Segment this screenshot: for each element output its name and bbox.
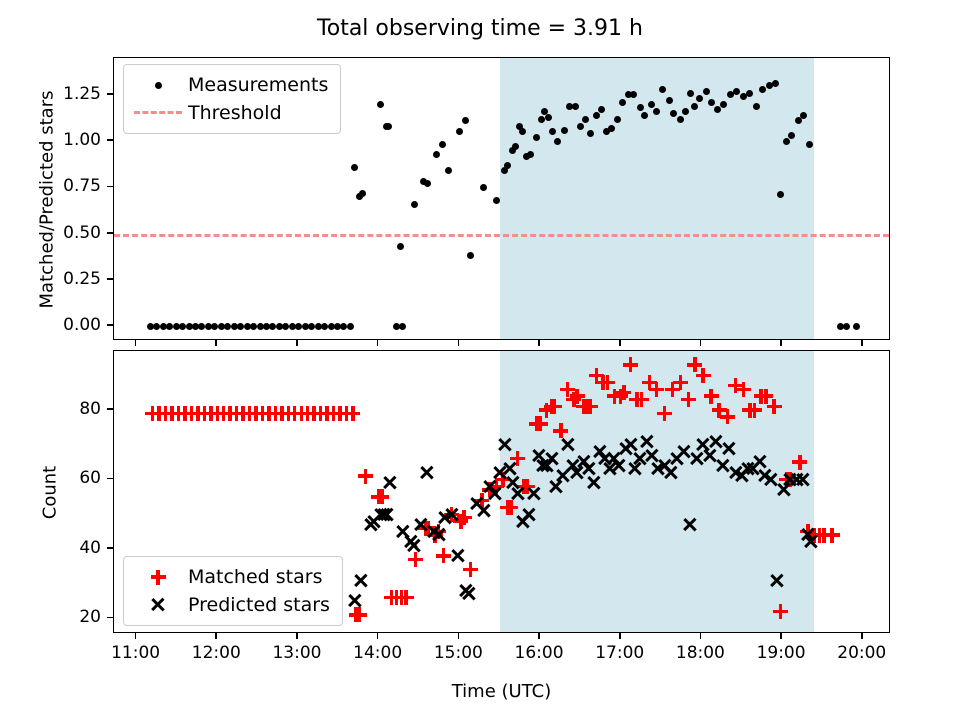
x-tick-label: 18:00 [676,643,725,663]
data-point [526,486,541,501]
data-point [382,475,397,490]
data-point [683,517,698,532]
data-point [436,548,451,563]
y-tick-label: 60 [21,468,101,488]
data-point [533,134,540,141]
x-tick [296,633,298,639]
data-point [792,455,807,470]
threshold-line [114,234,889,237]
x-tick [780,340,782,346]
data-point [462,587,477,602]
x-tick [700,340,702,346]
y-tick-label: 40 [21,538,101,558]
data-point [407,538,422,553]
data-point [681,392,696,407]
x-tick [700,633,702,639]
data-point [593,112,600,119]
data-point [777,191,784,198]
data-point [773,604,788,619]
data-point [696,95,703,102]
y-tick [107,93,113,95]
data-point [420,465,435,480]
x-tick [619,340,621,346]
x-tick [458,633,460,639]
ratio-legend: Measurements Threshold [123,64,341,134]
data-point [353,573,368,588]
data-point [385,123,392,130]
data-point [463,562,478,577]
data-point [703,88,710,95]
data-point [825,528,840,543]
data-point [682,108,689,115]
y-tick-label: 1.25 [21,84,101,104]
data-point [572,103,579,110]
data-point [439,141,446,148]
data-point [666,97,673,104]
data-point [720,409,735,424]
predicted-stars-marker-icon [132,595,184,615]
count-panel: Matched stars Predicted stars [113,350,890,633]
data-point [549,128,556,135]
data-point [714,106,721,113]
data-point [736,382,751,397]
x-tick-label: 12:00 [192,643,241,663]
data-point [767,399,782,414]
data-point [619,99,626,106]
legend-label-measurements: Measurements [188,74,328,96]
data-point [397,243,404,250]
x-tick-label: 14:00 [353,643,402,663]
data-point [457,510,472,525]
data-point [411,201,418,208]
data-point [581,462,596,477]
data-point [800,112,807,119]
measurements-marker-icon [132,75,184,95]
legend-label-predicted-stars: Predicted stars [188,594,330,616]
data-point [345,406,360,421]
data-point [510,486,525,501]
data-point [476,503,491,518]
x-tick [377,340,379,346]
data-point [659,86,666,93]
data-point [623,357,638,372]
data-point [639,434,654,449]
x-tick-label: 16:00 [515,643,564,663]
data-point [480,184,487,191]
data-point [462,117,469,124]
data-point [424,180,431,187]
data-point [649,382,664,397]
x-tick [538,340,540,346]
figure-root: Total observing time = 3.91 h Measuremen… [0,0,960,720]
x-tick [135,633,137,639]
data-point [806,141,813,148]
legend-item-predicted-stars: Predicted stars [132,591,330,619]
data-point [519,128,526,135]
data-point [630,91,637,98]
data-point [408,552,423,567]
data-point [788,132,795,139]
x-tick [780,633,782,639]
data-point [445,167,452,174]
data-point [351,164,358,171]
count-legend: Matched stars Predicted stars [123,556,343,626]
y-tick [107,617,113,619]
data-point [691,103,698,110]
data-point [752,455,767,470]
data-point [600,375,615,390]
data-point [796,472,811,487]
legend-item-measurements: Measurements [132,71,328,99]
data-point [582,116,589,123]
y-tick [107,232,113,234]
data-point [663,465,678,480]
data-point [720,101,727,108]
ratio-panel: Measurements Threshold [113,57,890,340]
x-tick [861,633,863,639]
data-point [547,399,562,414]
data-point [677,116,684,123]
data-point [456,128,463,135]
x-tick-label: 13:00 [272,643,321,663]
y-tick [107,139,113,141]
data-point [358,469,373,484]
x-tick [861,340,863,346]
data-point [612,458,627,473]
data-point [544,451,559,466]
y-tick [107,186,113,188]
data-point [687,90,694,97]
data-point [577,123,584,130]
legend-label-matched-stars: Matched stars [188,566,322,588]
data-point [747,403,762,418]
data-point [670,110,677,117]
data-point [843,323,850,330]
data-point [804,534,819,549]
data-point [608,125,615,132]
data-point [657,406,672,421]
data-point [753,103,760,110]
x-tick-label: 20:00 [837,643,886,663]
figure-title: Total observing time = 3.91 h [0,16,960,41]
data-point [583,399,598,414]
data-point [772,80,779,87]
data-point [503,500,518,515]
data-point [450,548,465,563]
data-point [444,507,459,522]
data-point [637,104,644,111]
x-tick-label: 15:00 [434,643,483,663]
data-point [853,323,860,330]
data-point [431,528,446,543]
y-tick-label: 80 [21,399,101,419]
y-tick-label: 0.50 [21,223,101,243]
y-tick-label: 0.75 [21,176,101,196]
data-point [433,151,440,158]
x-tick [377,633,379,639]
matched-stars-marker-icon [132,567,184,587]
data-point [497,437,512,452]
data-point [521,507,536,522]
data-point [759,86,766,93]
y-tick-label: 1.00 [21,130,101,150]
data-point [347,594,362,609]
data-point [493,197,500,204]
data-point [708,99,715,106]
legend-item-threshold: Threshold [132,99,328,127]
y-tick [107,478,113,480]
data-point [352,607,367,622]
data-point [545,114,552,121]
x-tick-label: 19:00 [757,643,806,663]
x-tick [296,340,298,346]
data-point [586,475,601,490]
data-point [634,392,649,407]
count-y-axis-title: Count [40,383,61,603]
data-point [746,90,753,97]
x-tick [538,633,540,639]
data-point [359,190,366,197]
data-point [553,423,568,438]
data-point [347,323,354,330]
x-tick [135,340,137,346]
data-point [648,101,655,108]
data-point [379,507,394,522]
y-tick [107,547,113,549]
threshold-line-icon [132,103,184,123]
data-point [561,127,568,134]
data-point [399,590,414,605]
data-point [598,106,605,113]
data-point [512,143,519,150]
x-tick [215,340,217,346]
y-tick [107,278,113,280]
y-tick [107,324,113,326]
data-point [467,252,474,259]
data-point [533,416,548,431]
data-point [487,486,502,501]
data-point [587,130,594,137]
x-tick-label: 11:00 [111,643,160,663]
data-point [641,112,648,119]
data-point [504,162,511,169]
ratio-y-axis-title: Matched/Predicted stars [37,90,58,310]
data-point [614,116,621,123]
legend-label-threshold: Threshold [188,102,282,124]
data-point [696,368,711,383]
x-tick-label: 17:00 [595,643,644,663]
y-tick-label: 20 [21,607,101,627]
data-point [704,389,719,404]
x-tick [619,633,621,639]
x-axis-title: Time (UTC) [113,681,890,702]
data-point [721,441,736,456]
data-point [527,151,534,158]
data-point [770,573,785,588]
data-point [673,375,688,390]
data-point [653,108,660,115]
data-point [502,462,517,477]
data-point [733,88,740,95]
data-point [554,138,561,145]
data-point [560,437,575,452]
data-point [623,437,638,452]
x-tick [458,340,460,346]
data-point [374,489,389,504]
data-point [399,323,406,330]
x-tick [215,633,217,639]
y-tick-label: 0.25 [21,269,101,289]
y-tick-label: 0.00 [21,315,101,335]
data-point [377,101,384,108]
legend-item-matched-stars: Matched stars [132,563,330,591]
y-tick [107,408,113,410]
